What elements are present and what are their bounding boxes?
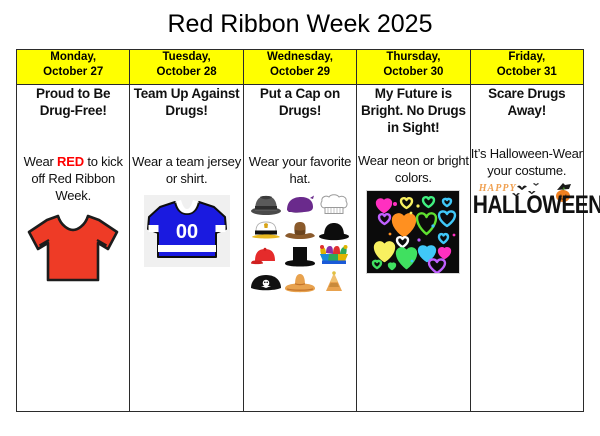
theme-thursday: My Future is Bright. No Drugs in Sight! <box>357 85 469 136</box>
party-cone-hat-icon <box>317 269 351 295</box>
day-cell-thursday: My Future is Bright. No Drugs in Sight! … <box>357 85 470 412</box>
day-name-monday: Monday, <box>17 50 129 65</box>
spacer <box>17 123 129 153</box>
calendar-header-row: Monday, October 27 Tuesday, October 28 W… <box>17 50 584 85</box>
jersey-number: 00 <box>175 221 197 243</box>
blue-jersey-icon: 00 <box>144 195 230 267</box>
happy-halloween-graphic: HAPPY HALLOWEEN <box>473 181 581 225</box>
day-cell-tuesday: Team Up Against Drugs! Wear a team jerse… <box>130 85 243 412</box>
theme-wednesday: Put a Cap on Drugs! <box>244 85 356 119</box>
art-wednesday <box>244 187 356 295</box>
page-title: Red Ribbon Week 2025 <box>0 0 600 39</box>
black-top-hat-icon <box>283 243 317 269</box>
red-tshirt-icon <box>25 210 121 286</box>
spacer <box>357 140 469 152</box>
day-date-thursday: October 30 <box>357 65 469 80</box>
day-date-tuesday: October 28 <box>130 65 242 80</box>
day-name-friday: Friday, <box>471 50 583 65</box>
day-name-tuesday: Tuesday, <box>130 50 242 65</box>
art-tuesday: 00 <box>130 187 242 267</box>
week-calendar-table: Monday, October 27 Tuesday, October 28 W… <box>16 49 584 412</box>
detail-monday-highlight: RED <box>57 154 84 169</box>
day-header-monday: Monday, October 27 <box>17 50 130 85</box>
purple-beret-hat-icon <box>283 191 317 217</box>
detail-monday-pre: Wear <box>24 154 57 169</box>
day-cell-wednesday: Put a Cap on Drugs! Wear your favorite h… <box>243 85 356 412</box>
theme-tuesday: Team Up Against Drugs! <box>130 85 242 119</box>
theme-monday: Proud to Be Drug-Free! <box>17 85 129 119</box>
detail-friday: It’s Halloween-Wear your costume. <box>471 145 583 179</box>
day-header-wednesday: Wednesday, October 29 <box>243 50 356 85</box>
day-name-wednesday: Wednesday, <box>244 50 356 65</box>
gray-fedora-hat-icon <box>249 191 283 217</box>
halloween-word: HALLOWEEN <box>473 192 600 220</box>
spacer <box>471 123 583 145</box>
day-header-friday: Friday, October 31 <box>470 50 583 85</box>
day-header-thursday: Thursday, October 30 <box>357 50 470 85</box>
white-chef-hat-icon <box>317 191 351 217</box>
calendar-wrapper: Monday, October 27 Tuesday, October 28 W… <box>16 49 584 412</box>
day-cell-friday: Scare Drugs Away! It’s Halloween-Wear yo… <box>470 85 583 412</box>
day-cell-monday: Proud to Be Drug-Free! Wear RED to kick … <box>17 85 130 412</box>
red-baseball-cap-icon <box>249 243 283 269</box>
hats-collage <box>249 191 351 295</box>
worksheet-page: Red Ribbon Week 2025 Monday, October 27 … <box>0 0 600 436</box>
brown-cowboy-hat-icon <box>283 217 317 243</box>
detail-tuesday: Wear a team jersey or shirt. <box>130 153 242 187</box>
spacer <box>130 123 242 153</box>
detail-thursday: Wear neon or bright colors. <box>357 152 469 186</box>
white-captain-cap-icon <box>249 217 283 243</box>
art-thursday <box>357 186 469 274</box>
art-monday <box>17 204 129 286</box>
jester-hat-icon <box>317 243 351 269</box>
pirate-hat-icon <box>249 269 283 295</box>
black-bowler-hat-icon <box>317 217 351 243</box>
theme-friday: Scare Drugs Away! <box>471 85 583 119</box>
day-name-thursday: Thursday, <box>357 50 469 65</box>
sombrero-hat-icon <box>283 269 317 295</box>
day-date-friday: October 31 <box>471 65 583 80</box>
detail-wednesday: Wear your favorite hat. <box>244 153 356 187</box>
day-date-monday: October 27 <box>17 65 129 80</box>
day-date-wednesday: October 29 <box>244 65 356 80</box>
detail-monday: Wear RED to kick off Red Ribbon Week. <box>17 153 129 204</box>
day-header-tuesday: Tuesday, October 28 <box>130 50 243 85</box>
spacer <box>244 123 356 153</box>
neon-hearts-image <box>366 190 460 274</box>
calendar-body-row: Proud to Be Drug-Free! Wear RED to kick … <box>17 85 584 412</box>
art-friday: HAPPY HALLOWEEN <box>471 179 583 225</box>
